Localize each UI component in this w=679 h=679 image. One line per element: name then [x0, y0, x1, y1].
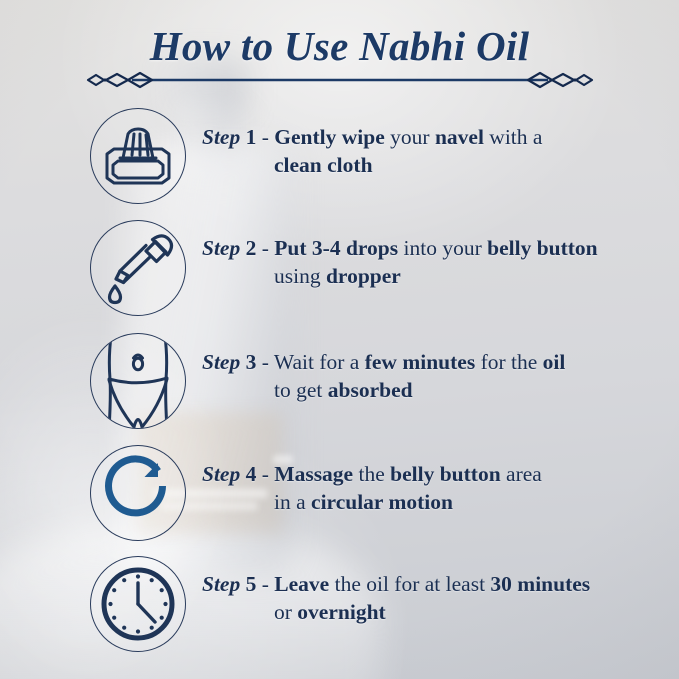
- step-2-icon-wrap: [86, 216, 190, 320]
- page-title: How to Use Nabhi Oil: [0, 22, 679, 70]
- step-5-seg-4: or: [274, 600, 297, 624]
- step-2-seg-1: Put 3-4 drops: [274, 236, 398, 260]
- step-3-seg-2: few minutes: [365, 350, 475, 374]
- step-4-text: Step 4 - Massage the belly button area i…: [202, 441, 542, 517]
- step-2-seg-5: dropper: [326, 264, 401, 288]
- step-4-line2: in a circular motion: [202, 489, 542, 517]
- step-1-seg-1: Gently wipe: [274, 125, 384, 149]
- step-row-1: Step 1 - Gently wipe your navel with a c…: [0, 104, 679, 208]
- step-1-label: Step: [202, 125, 240, 149]
- step-4-dash: -: [262, 462, 269, 486]
- step-2-dash: -: [262, 236, 269, 260]
- step-row-2: Step 2 - Put 3-4 drops into your belly b…: [0, 216, 679, 320]
- step-3-icon-wrap: [86, 329, 190, 433]
- step-row-5: Step 5 - Leave the oil for at least 30 m…: [0, 552, 679, 656]
- step-3-seg-1: Wait for a: [274, 350, 365, 374]
- step-3-seg-6: absorbed: [328, 378, 413, 402]
- step-1-text: Step 1 - Gently wipe your navel with a c…: [202, 104, 542, 180]
- step-2-seg-3: belly button: [487, 236, 598, 260]
- dropper-icon: [90, 220, 186, 316]
- poster-content: How to Use Nabhi Oil: [0, 0, 679, 679]
- step-1-dash: -: [262, 125, 269, 149]
- step-3-number: 3: [246, 350, 257, 374]
- step-3-text: Step 3 - Wait for a few minutes for the …: [202, 329, 565, 405]
- step-5-seg-3: 30 minutes: [490, 572, 590, 596]
- step-3-seg-3: for the: [475, 350, 542, 374]
- step-row-4: Step 4 - Massage the belly button area i…: [0, 441, 679, 545]
- step-4-number: 4: [246, 462, 257, 486]
- step-1-number: 1: [246, 125, 257, 149]
- step-3-dash: -: [262, 350, 269, 374]
- step-5-seg-5: overnight: [297, 600, 385, 624]
- step-5-seg-1: Leave: [274, 572, 329, 596]
- step-5-label: Step: [202, 572, 240, 596]
- step-5-line2: or overnight: [202, 599, 590, 627]
- step-2-seg-2: into your: [398, 236, 487, 260]
- step-3-seg-5: to get: [274, 378, 328, 402]
- step-3-line2: to get absorbed: [202, 377, 565, 405]
- step-1-line2: clean cloth: [202, 152, 542, 180]
- clock-icon: [90, 556, 186, 652]
- step-2-label: Step: [202, 236, 240, 260]
- step-1-seg-4: with a: [484, 125, 543, 149]
- step-4-label: Step: [202, 462, 240, 486]
- step-3-seg-4: oil: [543, 350, 566, 374]
- step-2-line2: using dropper: [202, 263, 598, 291]
- step-4-seg-5: in a: [274, 490, 311, 514]
- step-1-seg-3: navel: [435, 125, 484, 149]
- step-1-seg-5: clean cloth: [274, 153, 373, 177]
- divider-svg: [86, 66, 594, 94]
- step-4-seg-3: belly button: [390, 462, 501, 486]
- step-2-number: 2: [246, 236, 257, 260]
- step-5-text: Step 5 - Leave the oil for at least 30 m…: [202, 552, 590, 627]
- step-row-3: Step 3 - Wait for a few minutes for the …: [0, 329, 679, 433]
- circular-arrow-icon: [90, 445, 186, 541]
- step-2-seg-4: using: [274, 264, 326, 288]
- step-5-icon-wrap: [86, 552, 190, 656]
- step-4-seg-6: circular motion: [311, 490, 453, 514]
- step-4-seg-4: area: [501, 462, 542, 486]
- step-5-seg-2: the oil for at least: [329, 572, 490, 596]
- step-1-seg-2: your: [385, 125, 435, 149]
- step-4-seg-2: the: [353, 462, 390, 486]
- belly-torso-icon: [90, 333, 186, 429]
- ornamental-divider: [86, 66, 594, 94]
- step-1-icon-wrap: [86, 104, 190, 208]
- tissue-box-icon: [90, 108, 186, 204]
- step-3-label: Step: [202, 350, 240, 374]
- step-2-text: Step 2 - Put 3-4 drops into your belly b…: [202, 216, 598, 291]
- infographic-poster: How to Use Nabhi Oil: [0, 0, 679, 679]
- clock-hands: [138, 583, 155, 622]
- step-4-seg-1: Massage: [274, 462, 353, 486]
- step-5-number: 5: [246, 572, 257, 596]
- step-5-dash: -: [262, 572, 269, 596]
- step-4-icon-wrap: [86, 441, 190, 545]
